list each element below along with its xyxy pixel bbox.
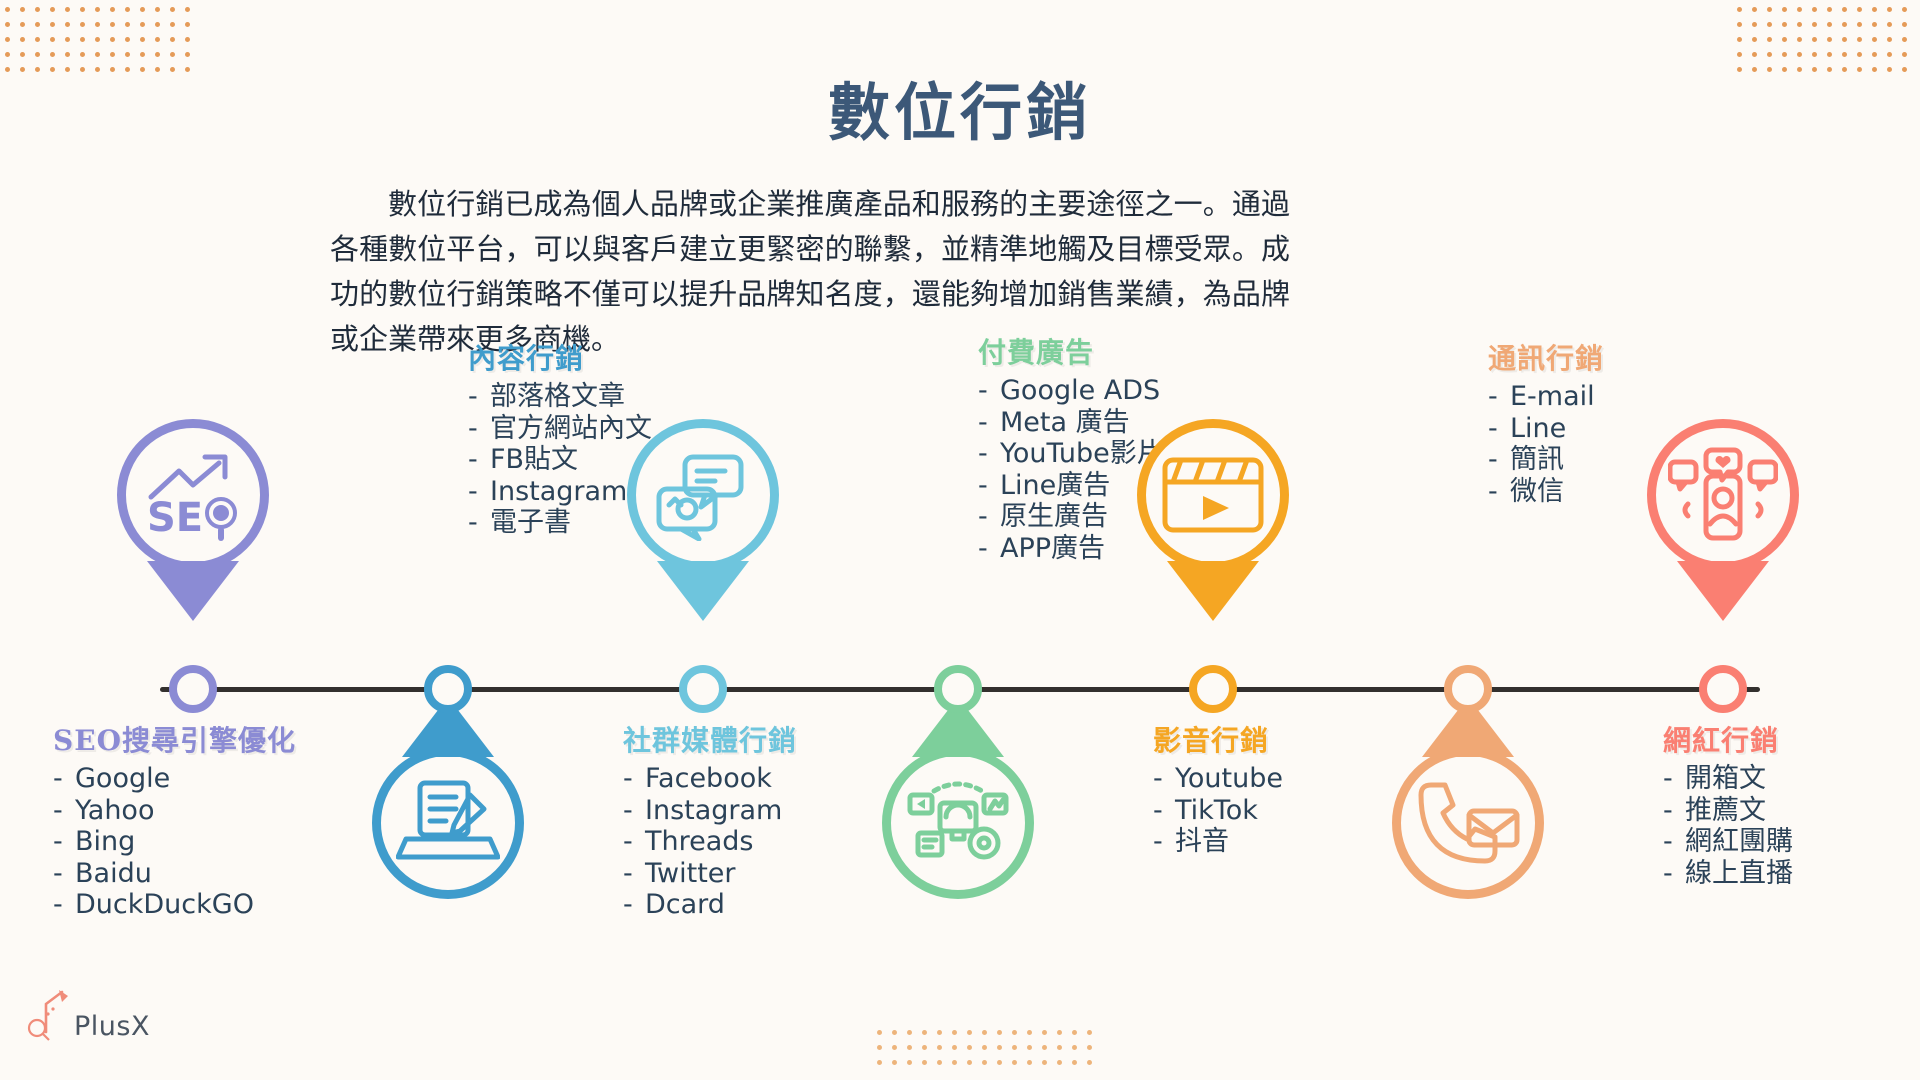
- pin-circle-content: [372, 747, 524, 899]
- seo-chart-icon: SE: [141, 447, 245, 543]
- pin-tail-seo: [147, 561, 239, 621]
- list-item: TikTok: [1153, 797, 1403, 826]
- svg-text:SE: SE: [147, 495, 203, 541]
- plusx-logo: PlusX: [26, 988, 150, 1042]
- node-text-block-social: 社群媒體行銷FacebookInstagramThreadsTwitterDca…: [623, 719, 873, 923]
- plusx-wordmark: PlusX: [74, 1011, 150, 1042]
- pin-tail-video: [1167, 561, 1259, 621]
- pin-circle-seo: SE: [117, 419, 269, 571]
- timeline-node-dot-messaging[interactable]: [1444, 665, 1492, 713]
- plusx-mark-icon: [26, 988, 72, 1042]
- pin-circle-influencer: [1647, 419, 1799, 571]
- list-item: Dcard: [623, 891, 873, 920]
- node-text-block-video: 影音行銷YoutubeTikTok抖音: [1153, 719, 1403, 860]
- influencer-phone-icon: [1668, 446, 1778, 544]
- list-item: Bing: [53, 828, 303, 857]
- timeline-pin-influencer[interactable]: [1647, 419, 1799, 571]
- node-heading-messaging: 通訊行銷: [1488, 337, 1738, 377]
- ads-megaphone-icon: [904, 777, 1012, 869]
- list-item: 開箱文: [1663, 765, 1913, 794]
- node-heading-paid: 付費廣告: [978, 331, 1228, 371]
- list-item: 網紅團購: [1663, 828, 1913, 857]
- phone-email-icon: [1413, 777, 1523, 869]
- dot-grid-decoration-bottom: [872, 1025, 1097, 1070]
- pin-tail-social: [657, 561, 749, 621]
- node-text-block-influencer: 網紅行銷開箱文推薦文網紅團購線上直播: [1663, 719, 1913, 891]
- timeline-pin-messaging[interactable]: [1392, 747, 1544, 899]
- node-text-block-seo: SEO搜尋引擎優化GoogleYahooBingBaiduDuckDuckGO: [53, 719, 303, 923]
- list-item: Google: [53, 765, 303, 794]
- node-heading-content: 內容行銷: [468, 337, 718, 377]
- node-item-list-social: FacebookInstagramThreadsTwitterDcard: [623, 765, 873, 920]
- document-pen-laptop-icon: [396, 777, 500, 869]
- pin-circle-social: [627, 419, 779, 571]
- timeline-pin-social[interactable]: [627, 419, 779, 571]
- timeline-node-dot-social[interactable]: [679, 665, 727, 713]
- node-heading-seo: SEO搜尋引擎優化: [53, 719, 303, 759]
- video-play-icon: [1159, 452, 1267, 538]
- node-heading-influencer: 網紅行銷: [1663, 719, 1913, 759]
- timeline-node-dot-seo[interactable]: [169, 665, 217, 713]
- node-heading-social: 社群媒體行銷: [623, 719, 873, 759]
- list-item: Threads: [623, 828, 873, 857]
- list-item: 部落格文章: [468, 383, 718, 412]
- list-item: Instagram: [623, 797, 873, 826]
- timeline-pin-content[interactable]: [372, 747, 524, 899]
- pin-tail-influencer: [1677, 561, 1769, 621]
- node-item-list-video: YoutubeTikTok抖音: [1153, 765, 1403, 857]
- timeline-node-dot-influencer[interactable]: [1699, 665, 1747, 713]
- timeline-node-dot-paid[interactable]: [934, 665, 982, 713]
- timeline-node-dot-video[interactable]: [1189, 665, 1237, 713]
- node-item-list-seo: GoogleYahooBingBaiduDuckDuckGO: [53, 765, 303, 920]
- timeline-pin-paid[interactable]: [882, 747, 1034, 899]
- list-item: Youtube: [1153, 765, 1403, 794]
- list-item: Baidu: [53, 860, 303, 889]
- page-title: 數位行銷: [0, 62, 1920, 152]
- timeline-pin-video[interactable]: [1137, 419, 1289, 571]
- infographic-canvas: 數位行銷 數位行銷已成為個人品牌或企業推廣產品和服務的主要途徑之一。通過各種數位…: [0, 0, 1920, 1080]
- list-item: DuckDuckGO: [53, 891, 303, 920]
- pin-circle-messaging: [1392, 747, 1544, 899]
- node-item-list-influencer: 開箱文推薦文網紅團購線上直播: [1663, 765, 1913, 888]
- list-item: Yahoo: [53, 797, 303, 826]
- list-item: 抖音: [1153, 828, 1403, 857]
- list-item: E-mail: [1488, 383, 1738, 412]
- list-item: Facebook: [623, 765, 873, 794]
- chat-bubbles-icon: [651, 449, 755, 541]
- list-item: 線上直播: [1663, 860, 1913, 889]
- timeline-node-dot-content[interactable]: [424, 665, 472, 713]
- node-heading-video: 影音行銷: [1153, 719, 1403, 759]
- list-item: Twitter: [623, 860, 873, 889]
- list-item: Google ADS: [978, 377, 1228, 406]
- pin-circle-video: [1137, 419, 1289, 571]
- pin-circle-paid: [882, 747, 1034, 899]
- list-item: 推薦文: [1663, 797, 1913, 826]
- timeline-pin-seo[interactable]: SE: [117, 419, 269, 571]
